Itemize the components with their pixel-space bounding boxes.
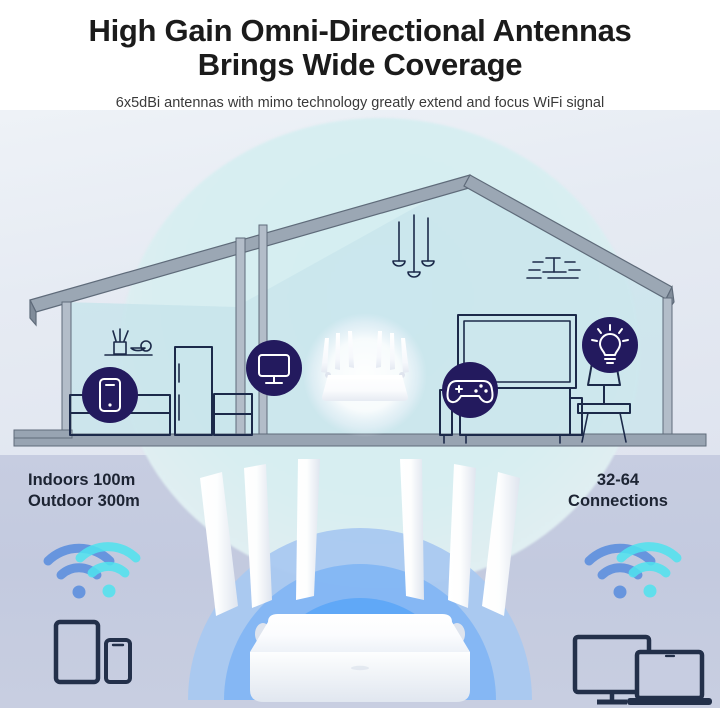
product-marketing-image: High Gain Omni-Directional Antennas Brin…	[0, 0, 720, 708]
smartphone-icon-left	[106, 640, 130, 682]
antenna-l3	[200, 472, 238, 616]
antenna-r3	[482, 472, 520, 616]
tablet-icon	[56, 622, 98, 682]
hero-router-scene	[0, 0, 720, 708]
router-top	[250, 614, 470, 652]
router-front	[250, 652, 470, 702]
left-wifi-devices	[48, 547, 136, 682]
right-wifi-devices	[575, 547, 712, 705]
laptop-icon-right	[627, 652, 712, 705]
